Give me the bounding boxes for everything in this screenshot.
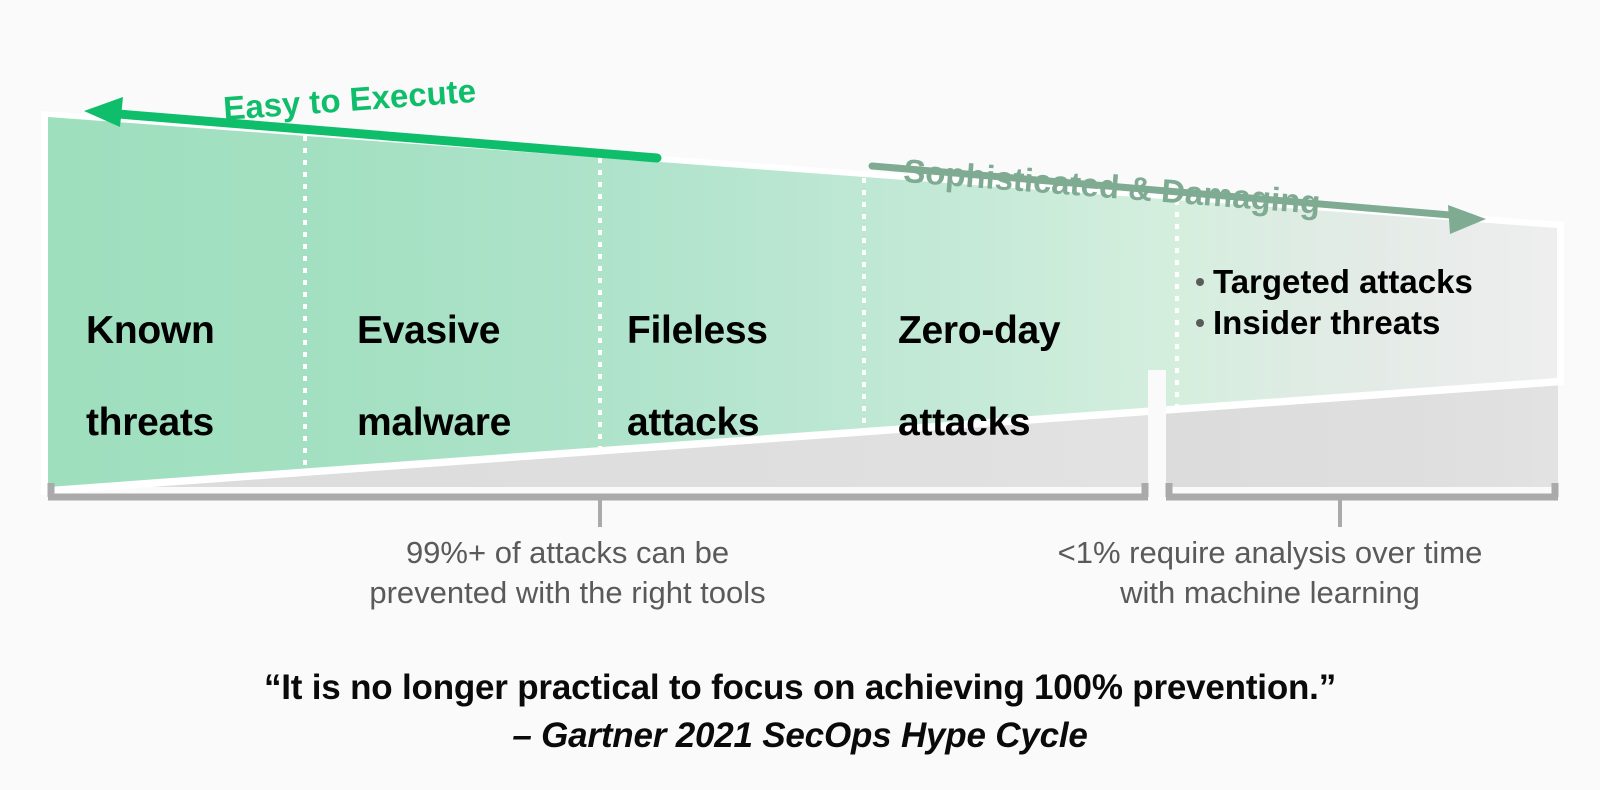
segment-fileless-attacks: Fileless attacks	[627, 262, 768, 446]
bullet-targeted-attacks: Targeted attacks	[1213, 262, 1473, 303]
list-item: Insider threats	[1196, 303, 1473, 344]
quote-block: “It is no longer practical to focus on a…	[0, 668, 1600, 756]
bracket-right	[1166, 483, 1558, 527]
bracket-left	[48, 483, 1148, 527]
list-item: Targeted attacks	[1196, 262, 1473, 303]
caption-prevention: 99%+ of attacks can be prevented with th…	[295, 533, 840, 612]
zone-gap	[1148, 370, 1166, 495]
segment-evasive-malware-line1: Evasive	[357, 309, 500, 352]
segment-fileless-attacks-line2: attacks	[627, 401, 759, 444]
caption-machine-learning: <1% require analysis over time with mach…	[990, 533, 1550, 612]
bullet-insider-threats: Insider threats	[1213, 303, 1440, 344]
segment-fileless-attacks-line1: Fileless	[627, 309, 768, 352]
segment-zero-day-attacks: Zero-day attacks	[898, 262, 1060, 446]
quote-text: “It is no longer practical to focus on a…	[0, 668, 1600, 708]
segment-evasive-malware: Evasive malware	[357, 262, 511, 446]
infographic-canvas: Easy to Execute Sophisticated & Damaging…	[0, 0, 1600, 790]
quote-attribution: – Gartner 2021 SecOps Hype Cycle	[0, 716, 1600, 756]
segment-advanced-threats-list: Targeted attacks Insider threats	[1196, 262, 1473, 344]
bullet-dot-icon	[1196, 319, 1204, 327]
segment-known-threats-line1: Known	[86, 309, 214, 352]
segment-zero-day-attacks-line2: attacks	[898, 401, 1030, 444]
segment-zero-day-attacks-line1: Zero-day	[898, 309, 1060, 352]
bullet-dot-icon	[1196, 278, 1204, 286]
segment-evasive-malware-line2: malware	[357, 401, 511, 444]
segment-known-threats-line2: threats	[86, 401, 214, 444]
segment-known-threats: Known threats	[86, 262, 214, 446]
